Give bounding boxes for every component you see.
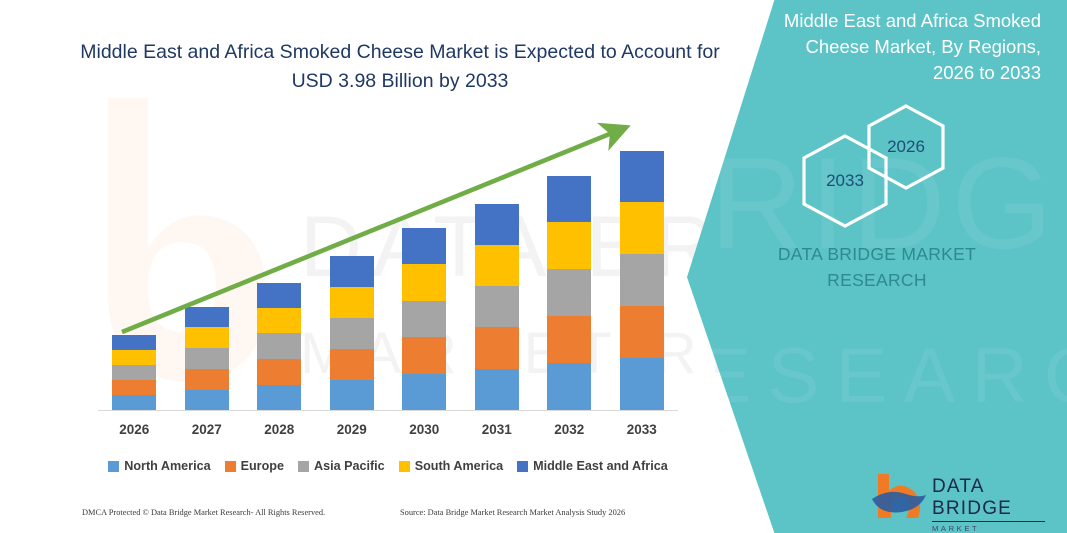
- bar-segment: [402, 264, 446, 301]
- legend-swatch-icon: [225, 461, 236, 472]
- legend-label: South America: [415, 459, 503, 473]
- bar-group: [402, 228, 446, 410]
- infographic-canvas: DATA BRIDGE MARKET RESEARCH BRIDGE RESEA…: [0, 0, 1067, 533]
- x-axis-label-2033: 2033: [607, 422, 677, 437]
- bar-segment: [620, 151, 664, 202]
- bar-segment: [185, 369, 229, 390]
- bar-group: [620, 151, 664, 410]
- x-axis-label-2030: 2030: [389, 422, 459, 437]
- bar-segment: [330, 380, 374, 410]
- legend-swatch-icon: [517, 461, 528, 472]
- panel-brand-line-2: RESEARCH: [687, 267, 1067, 293]
- bar-segment: [620, 254, 664, 306]
- bar-segment: [112, 335, 156, 350]
- bar-segment: [402, 301, 446, 337]
- x-axis-label-2029: 2029: [317, 422, 387, 437]
- x-axis-tick-labels: 20262027202820292030203120322033: [98, 422, 678, 444]
- x-axis-label-2028: 2028: [244, 422, 314, 437]
- bar-group: [112, 335, 156, 410]
- legend-swatch-icon: [399, 461, 410, 472]
- legend-item[interactable]: North America: [108, 459, 210, 473]
- bar-group: [475, 204, 519, 410]
- chart-plot-area: 20262027202820292030203120322033: [0, 0, 700, 460]
- dbmr-logo: DATA BRIDGE MARKET RESEARCH: [870, 470, 1045, 520]
- bar-segment: [547, 269, 591, 316]
- bar-segment: [330, 256, 374, 287]
- bar-group: [547, 176, 591, 410]
- legend-item[interactable]: South America: [399, 459, 503, 473]
- bar-segment: [257, 308, 301, 333]
- bar-segment: [620, 358, 664, 410]
- bar-segment: [620, 202, 664, 254]
- bar-segment: [402, 374, 446, 410]
- bar-segment: [185, 327, 229, 348]
- panel-brand-line-1: DATA BRIDGE MARKET: [778, 244, 976, 264]
- right-brand-panel: BRIDGE RESEARCH Middle East and Africa S…: [687, 0, 1067, 533]
- legend-label: North America: [124, 459, 210, 473]
- x-axis-label-2032: 2032: [534, 422, 604, 437]
- bar-segment: [475, 204, 519, 245]
- bar-segment: [185, 348, 229, 369]
- x-axis-label-2026: 2026: [99, 422, 169, 437]
- bar-group: [257, 283, 301, 410]
- legend-label: Asia Pacific: [314, 459, 385, 473]
- chart-legend: North AmericaEuropeAsia PacificSouth Ame…: [98, 455, 678, 477]
- legend-item[interactable]: Middle East and Africa: [517, 459, 668, 473]
- hexagon-label-2033: 2033: [800, 133, 890, 229]
- x-axis-label-2031: 2031: [462, 422, 532, 437]
- stacked-bar-series: [98, 120, 678, 410]
- bar-segment: [402, 228, 446, 264]
- bar-segment: [475, 245, 519, 286]
- x-axis-label-2027: 2027: [172, 422, 242, 437]
- bar-segment: [402, 337, 446, 374]
- bar-segment: [112, 350, 156, 365]
- legend-label: Europe: [241, 459, 284, 473]
- legend-item[interactable]: Asia Pacific: [298, 459, 385, 473]
- bar-segment: [185, 390, 229, 410]
- bar-segment: [475, 369, 519, 410]
- bar-segment: [547, 222, 591, 269]
- footer-source: Source: Data Bridge Market Research Mark…: [400, 508, 625, 517]
- bar-segment: [475, 286, 519, 327]
- bar-segment: [330, 318, 374, 349]
- bar-segment: [112, 380, 156, 395]
- bar-segment: [257, 283, 301, 308]
- hexagon-badge-2033: 2033: [800, 133, 890, 229]
- bar-segment: [257, 333, 301, 359]
- dbmr-logo-name: DATA BRIDGE: [932, 476, 1045, 522]
- dbmr-logo-text: DATA BRIDGE MARKET RESEARCH: [932, 476, 1045, 533]
- bar-segment: [547, 176, 591, 222]
- bar-segment: [257, 385, 301, 410]
- bar-segment: [620, 306, 664, 358]
- legend-item[interactable]: Europe: [225, 459, 284, 473]
- footer-copyright: DMCA Protected © Data Bridge Market Rese…: [82, 508, 325, 517]
- footer: DMCA Protected © Data Bridge Market Rese…: [0, 508, 700, 528]
- bar-segment: [475, 327, 519, 369]
- legend-swatch-icon: [298, 461, 309, 472]
- bar-segment: [257, 359, 301, 385]
- bar-group: [185, 307, 229, 410]
- bar-segment: [547, 316, 591, 363]
- bar-segment: [185, 307, 229, 327]
- bar-group: [330, 256, 374, 410]
- dbmr-logo-mark-icon: [870, 472, 928, 518]
- panel-brand-name: DATA BRIDGE MARKET RESEARCH: [687, 241, 1067, 293]
- bar-segment: [330, 349, 374, 380]
- legend-label: Middle East and Africa: [533, 459, 668, 473]
- bar-segment: [112, 365, 156, 380]
- x-axis-line: [98, 410, 678, 411]
- legend-swatch-icon: [108, 461, 119, 472]
- bar-segment: [547, 363, 591, 410]
- bar-segment: [112, 395, 156, 410]
- dbmr-logo-tagline: MARKET RESEARCH: [932, 524, 1045, 533]
- bar-segment: [330, 287, 374, 318]
